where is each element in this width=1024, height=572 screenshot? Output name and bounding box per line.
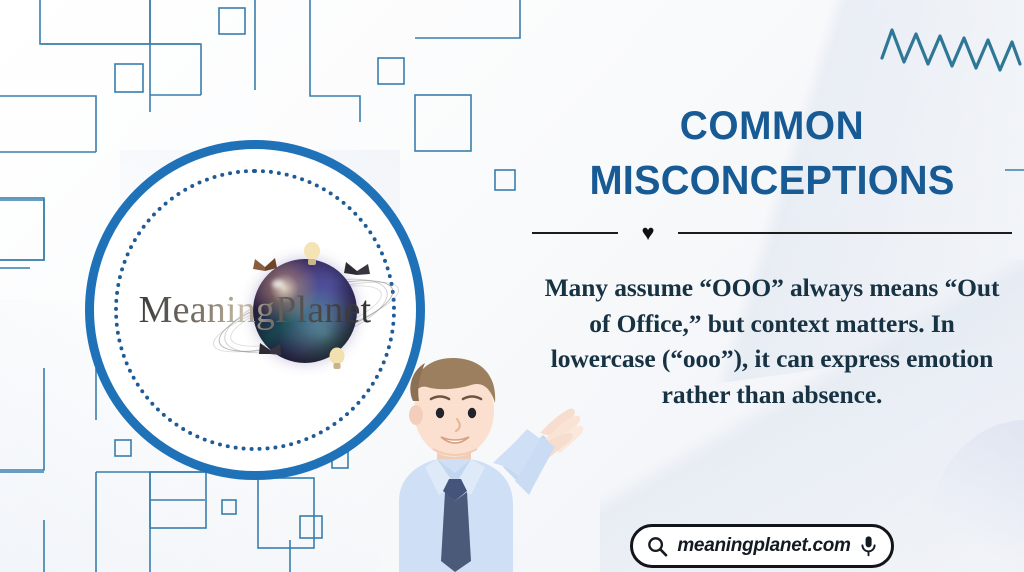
logo-lockup: MeaningPlanet [105,245,405,375]
search-icon[interactable] [647,536,668,557]
divider-line-right [678,232,1012,234]
divider: ♥ [532,222,1012,244]
microphone-icon[interactable] [860,535,877,557]
title-line-2: MISCONCEPTIONS [528,153,1017,207]
logo-wordmark: MeaningPlanet [139,288,372,332]
butterfly-icon [257,341,283,361]
poster-canvas: MeaningPlanet [0,0,1024,572]
title-line-1: COMMON [528,100,1017,153]
brand-logo-medallion: MeaningPlanet [85,140,425,480]
page-title: COMMON MISCONCEPTIONS [528,100,1017,207]
content-column: COMMON MISCONCEPTIONS ♥ Many assume “OOO… [520,0,1024,572]
lightbulb-icon [301,241,323,267]
website-url-text: meaningplanet.com [677,535,851,557]
butterfly-icon [343,261,371,281]
heart-icon: ♥ [636,222,660,244]
body-paragraph: Many assume “OOO” always means “Out of O… [534,270,1010,413]
divider-line-left [532,232,618,234]
lightbulb-icon [327,347,347,371]
butterfly-icon [252,257,278,277]
website-search-pill[interactable]: meaningplanet.com [630,524,894,568]
